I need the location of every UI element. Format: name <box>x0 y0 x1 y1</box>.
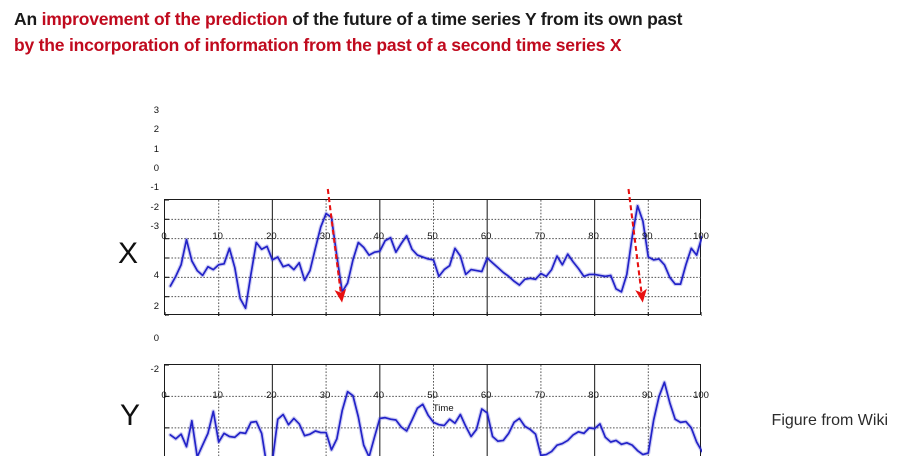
figure-source-caption: Figure from Wiki <box>772 412 888 430</box>
xtick-label: 60 <box>471 390 501 401</box>
xtick-label: 90 <box>632 390 662 401</box>
ytick-label: 2 <box>137 124 159 135</box>
xtick-label: 30 <box>310 390 340 401</box>
xtick-label: 80 <box>579 390 609 401</box>
ytick-label: 0 <box>137 333 159 344</box>
xtick-label: 60 <box>471 231 501 242</box>
xtick-label: 50 <box>418 231 448 242</box>
xtick-label: 80 <box>579 231 609 242</box>
chart-x-canvas <box>165 200 702 316</box>
ytick-label: 0 <box>137 163 159 174</box>
headline-line-2: by the incorporation of information from… <box>14 32 904 58</box>
xtick-label: 100 <box>686 231 716 242</box>
xtick-label: 10 <box>203 231 233 242</box>
xtick-label: 40 <box>364 390 394 401</box>
xtick-label: 70 <box>525 390 555 401</box>
ytick-label: -2 <box>137 202 159 213</box>
series-line-halo <box>170 206 702 308</box>
headline-line1-prefix: An <box>14 9 42 29</box>
ytick-label: 3 <box>137 105 159 116</box>
ytick-label: -2 <box>137 364 159 375</box>
chart-y-xaxis-title: Time <box>323 403 563 414</box>
xtick-label: 100 <box>686 390 716 401</box>
chart-x-plot-area <box>164 199 701 315</box>
ytick-label: 1 <box>137 144 159 155</box>
xtick-label: 0 <box>149 231 179 242</box>
xtick-label: 20 <box>256 390 286 401</box>
xtick-label: 0 <box>149 390 179 401</box>
headline-line1-suffix: of the future of a time series Y from it… <box>288 9 683 29</box>
chart-x-series-axis-label: X <box>118 239 138 269</box>
xtick-label: 90 <box>632 231 662 242</box>
xtick-label: 10 <box>203 390 233 401</box>
xtick-label: 20 <box>256 231 286 242</box>
xtick-label: 40 <box>364 231 394 242</box>
xtick-label: 50 <box>418 390 448 401</box>
time-series-figure: X Y -3-2-101230102030405060708090100-202… <box>0 88 910 418</box>
slide-headline: An improvement of the prediction of the … <box>14 6 904 58</box>
xtick-label: 70 <box>525 231 555 242</box>
slide-canvas: An improvement of the prediction of the … <box>0 0 910 456</box>
ytick-label: 2 <box>137 301 159 312</box>
chart-y-series-axis-label: Y <box>120 401 140 431</box>
headline-line-1: An improvement of the prediction of the … <box>14 9 682 29</box>
xtick-label: 30 <box>310 231 340 242</box>
headline-line1-emphasis: improvement of the prediction <box>42 9 288 29</box>
ytick-label: -1 <box>137 182 159 193</box>
ytick-label: 4 <box>137 270 159 281</box>
